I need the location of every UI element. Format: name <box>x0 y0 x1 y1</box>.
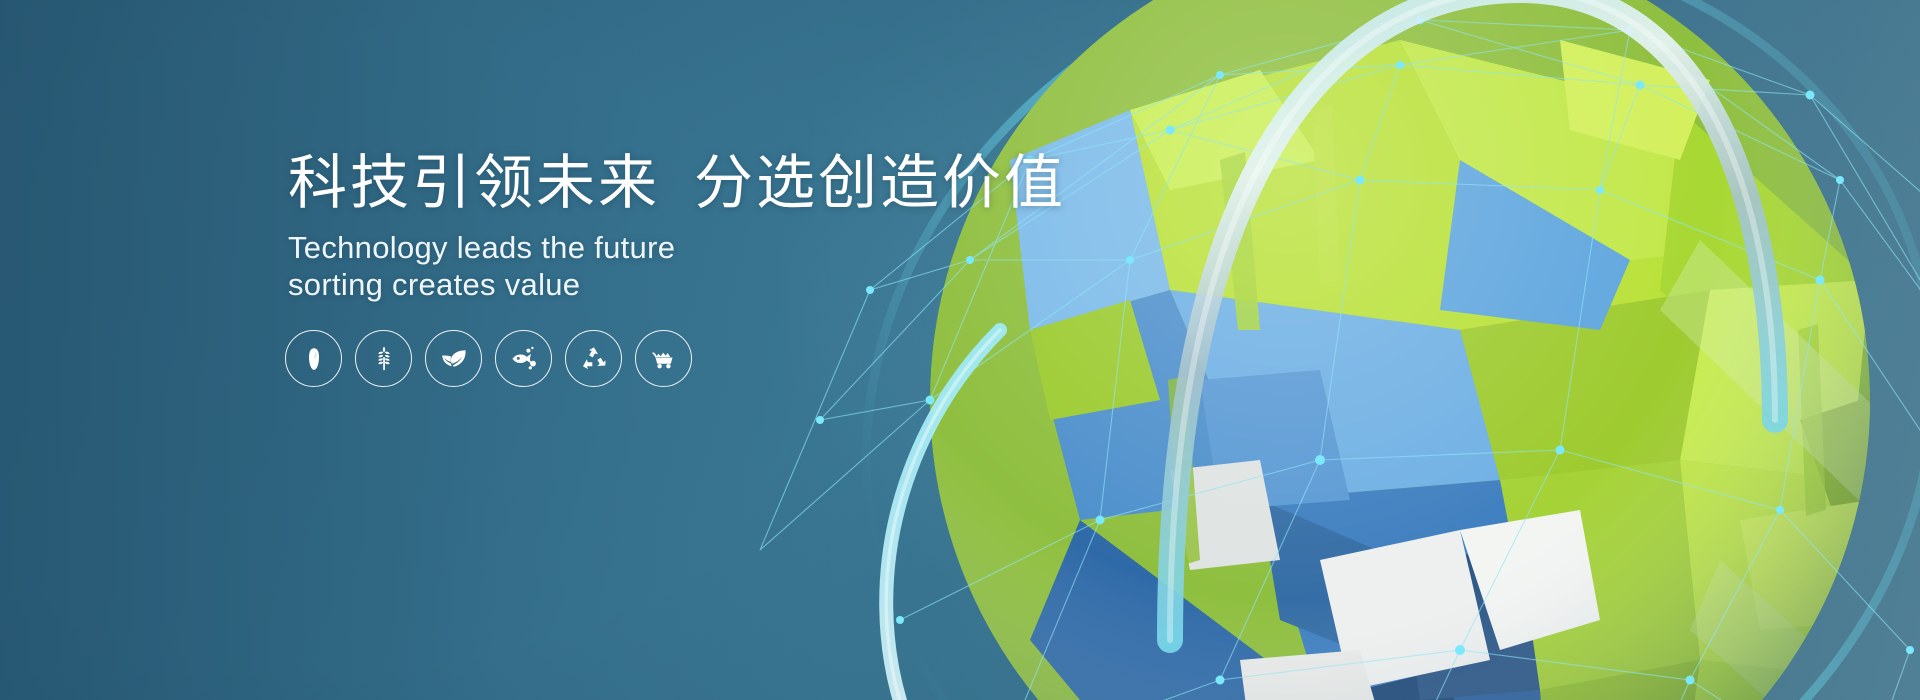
subtitle-line-1: Technology leads the future <box>288 229 1048 267</box>
seed-icon[interactable] <box>285 330 342 387</box>
hero-subtitle: Technology leads the future sorting crea… <box>288 229 1048 305</box>
ore-cart-icon[interactable] <box>635 330 692 387</box>
fish-icon[interactable] <box>495 330 552 387</box>
wheat-icon[interactable] <box>355 330 412 387</box>
page-title: 科技引领未来分选创造价值 <box>288 152 1048 215</box>
headline-part-2: 分选创造价值 <box>694 150 1066 216</box>
hero-banner: 科技引领未来分选创造价值 Technology leads the future… <box>0 0 1920 700</box>
headline-part-1: 科技引领未来 <box>288 150 660 216</box>
low-poly-globe-graphic <box>700 0 1920 700</box>
subtitle-line-2: sorting creates value <box>288 266 1048 304</box>
industry-icon-row <box>285 330 692 387</box>
recycle-icon[interactable] <box>565 330 622 387</box>
leaves-icon[interactable] <box>425 330 482 387</box>
hero-copy: 科技引领未来分选创造价值 Technology leads the future… <box>288 152 1048 304</box>
